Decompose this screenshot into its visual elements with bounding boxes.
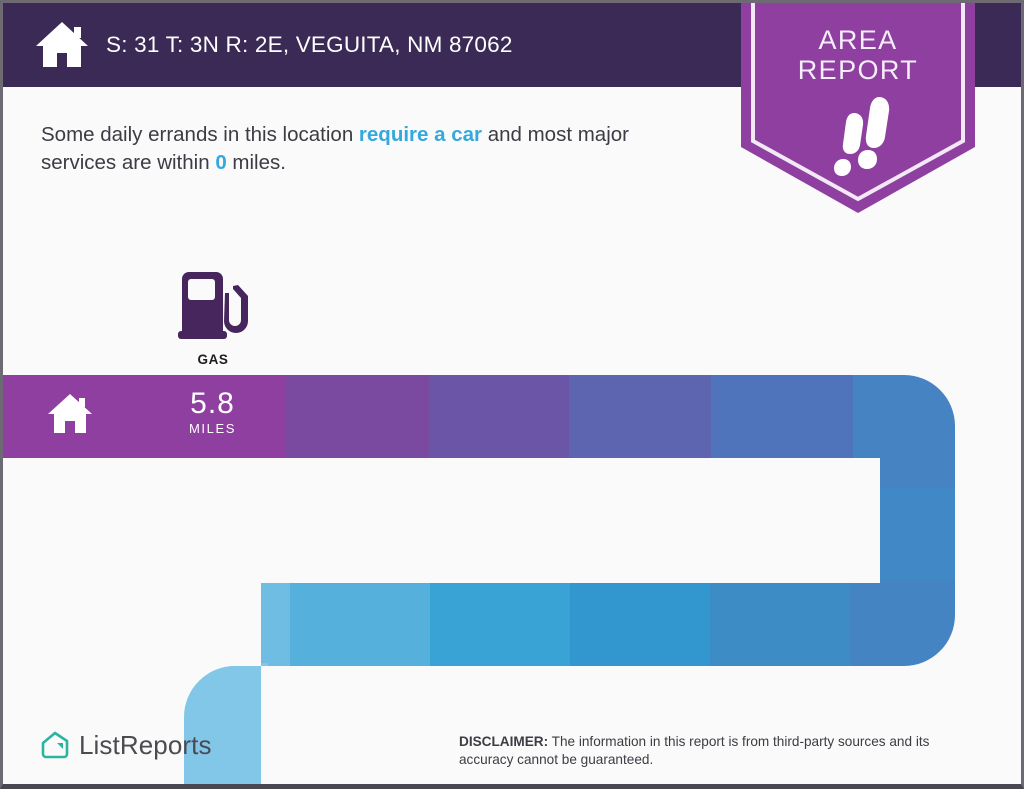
disclaimer-label: DISCLAIMER:: [459, 734, 548, 749]
listreports-logo[interactable]: ListReports: [39, 729, 212, 761]
segment-bot-6: [708, 581, 850, 673]
area-report-page: S: 31 T: 3N R: 2E, VEGUITA, NM 87062 ARE…: [0, 0, 1024, 789]
page-title: S: 31 T: 3N R: 2E, VEGUITA, NM 87062: [106, 32, 513, 58]
segment-right-2: [880, 488, 960, 528]
logo-text: ListReports: [79, 730, 212, 761]
segment-bot-tail: [178, 663, 268, 789]
badge-shape: [741, 1, 975, 213]
segment-bot-5: [568, 581, 710, 673]
listreports-house-icon: [39, 729, 71, 761]
segment-top-6: [853, 375, 963, 459]
area-report-badge: AREA REPORT: [739, 1, 977, 215]
segment-top-2: [285, 375, 429, 459]
home-icon: [34, 20, 90, 70]
segment-bot-0: [880, 518, 960, 588]
segment-top-4: [569, 375, 711, 459]
segment-top-5: [711, 375, 853, 459]
distance-value: 5.8: [155, 388, 270, 420]
distance-value-group: 5.8 MILES: [155, 388, 270, 436]
distance-unit: MILES: [155, 421, 270, 436]
segment-bot-4: [428, 581, 570, 673]
home-icon: [47, 393, 93, 435]
disclaimer: DISCLAIMER: The information in this repo…: [459, 733, 983, 769]
segment-top-3: [429, 375, 569, 459]
segment-bot-2: [178, 581, 290, 673]
segment-bot-7: [848, 581, 963, 673]
track-top-row: [3, 375, 963, 459]
segment-bot-3: [288, 581, 430, 673]
